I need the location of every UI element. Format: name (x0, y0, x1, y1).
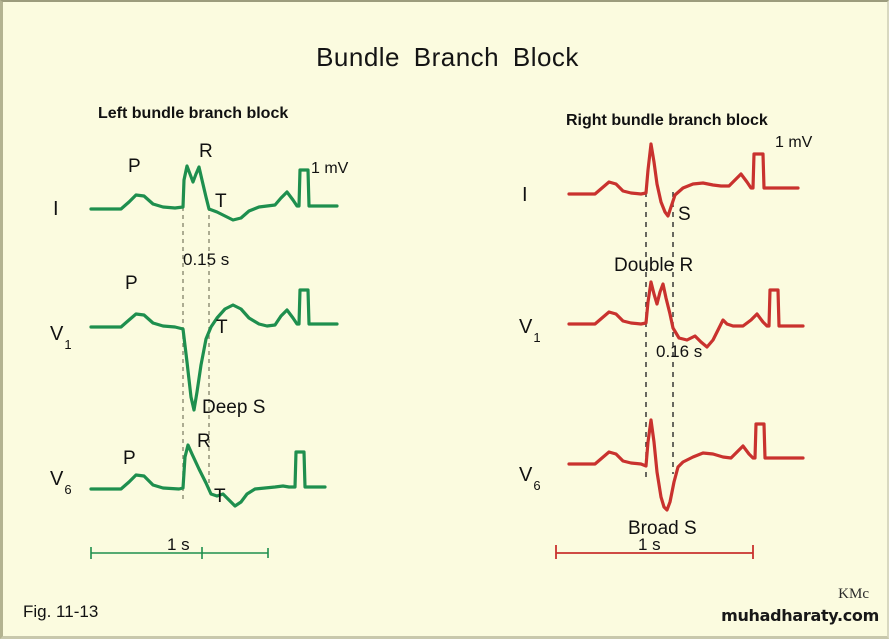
lead-label-right-v1-subscript: 1 (533, 330, 540, 345)
left-trace-lead-v1 (91, 290, 337, 410)
lead-label-left-v1-subscript: 1 (64, 337, 71, 352)
figure-number: Fig. 11-13 (23, 603, 98, 620)
right-trace-lead-v6 (569, 420, 803, 510)
lead-label-left-v6-subscript: 6 (64, 482, 71, 497)
lead-label-left-v6-text: V (50, 468, 63, 490)
lead-label-right-v1-text: V (519, 316, 532, 338)
ecg-figure: Bundle Branch Block Left bundle branch b… (0, 0, 889, 639)
left-time-scale-label: 1 s (167, 536, 190, 553)
right-qrs-duration-label: 0.16 s (656, 343, 702, 360)
left-lead-i-p-wave-label: P (128, 157, 141, 176)
lead-label-right-v6: V6 (519, 465, 540, 488)
left-lead-v6-p-wave-label: P (123, 449, 136, 468)
lead-label-left-v6: V6 (50, 469, 71, 492)
left-lead-v6-r-wave-label: R (197, 432, 211, 451)
lead-label-right-i-text: I (522, 184, 528, 206)
lead-label-left-i: I (53, 199, 59, 219)
lead-label-right-v6-subscript: 6 (533, 478, 540, 493)
left-calibration-label: 1 mV (311, 161, 348, 177)
lead-label-left-i-text: I (53, 198, 59, 220)
left-qrs-duration-label: 0.15 s (183, 251, 229, 268)
lead-label-left-v1-text: V (50, 323, 63, 345)
left-lead-v1-p-wave-label: P (125, 274, 138, 293)
left-panel-heading: Left bundle branch block (98, 106, 288, 122)
left-lead-v1-t-wave-label: T (216, 318, 228, 337)
right-trace-lead-v1 (569, 282, 803, 347)
lead-label-right-v6-text: V (519, 464, 532, 486)
right-time-scale-label: 1 s (638, 536, 661, 553)
left-lead-i-t-wave-label: T (215, 192, 227, 211)
lead-label-right-i: I (522, 185, 528, 205)
lead-label-left-v1: V1 (50, 324, 71, 347)
page-title: Bundle Branch Block (3, 44, 889, 70)
lead-label-right-v1: V1 (519, 317, 540, 340)
author-signature: KMc (838, 587, 869, 602)
right-lead-i-s-wave-label: S (678, 205, 691, 224)
right-calibration-label: 1 mV (775, 135, 812, 151)
right-lead-v1-double-r-label: Double R (614, 256, 693, 275)
ecg-traces-canvas (3, 2, 889, 639)
left-lead-i-r-wave-label: R (199, 142, 213, 161)
left-lead-v1-deep-s-label: Deep S (202, 398, 265, 417)
right-panel-heading: Right bundle branch block (566, 113, 768, 129)
site-watermark: muhadharaty.com (721, 608, 879, 624)
left-lead-v6-t-wave-label: T (214, 487, 226, 506)
